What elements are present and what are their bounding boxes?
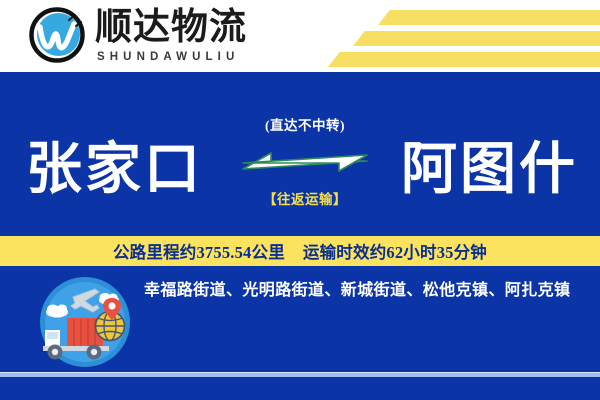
decorative-stripes <box>320 0 600 72</box>
origin-city: 张家口 <box>26 120 203 220</box>
return-note: 【往返运输】 <box>240 188 370 208</box>
coverage-row: 幸福路街道、光明路街道、新城街道、松他克镇、阿扎克镇 <box>0 272 600 372</box>
truck-plane-globe-icon <box>33 274 137 370</box>
brand-text: 顺达物流 SHUNDAWULIU <box>95 7 247 62</box>
double-headed-arrow-icon <box>241 141 369 183</box>
direct-note: (直达不中转) <box>240 114 370 134</box>
brand-logo: 顺达物流 SHUNDAWULIU <box>28 6 247 64</box>
banner-header: 顺达物流 SHUNDAWULIU <box>0 0 600 72</box>
logistics-route-banner: 顺达物流 SHUNDAWULIU 张家口 (直达不中转) 【往返运输】 阿图什 <box>0 0 600 400</box>
banner-body: 张家口 (直达不中转) 【往返运输】 阿图什 公路里程约3755.54公里 运输… <box>0 72 600 400</box>
brand-name-en: SHUNDAWULIU <box>97 51 247 63</box>
footer-strip <box>0 377 600 400</box>
stripe-1 <box>378 10 600 25</box>
route-row: 张家口 (直达不中转) 【往返运输】 阿图什 <box>0 120 600 230</box>
stripe-3 <box>328 52 600 67</box>
route-middle: (直达不中转) 【往返运输】 <box>240 114 370 208</box>
coverage-areas-text: 幸福路街道、光明路街道、新城街道、松他克镇、阿扎克镇 <box>144 278 584 304</box>
duration-text: 运输时效约62小时35分钟 <box>303 239 487 263</box>
shunda-circular-swoosh-logo-icon <box>28 6 86 64</box>
stripe-2 <box>353 31 600 46</box>
brand-name-cn: 顺达物流 <box>95 9 247 47</box>
destination-city: 阿图什 <box>401 120 578 220</box>
distance-text: 公路里程约3755.54公里 <box>113 239 285 263</box>
info-bar: 公路里程约3755.54公里 运输时效约62小时35分钟 <box>0 236 600 266</box>
